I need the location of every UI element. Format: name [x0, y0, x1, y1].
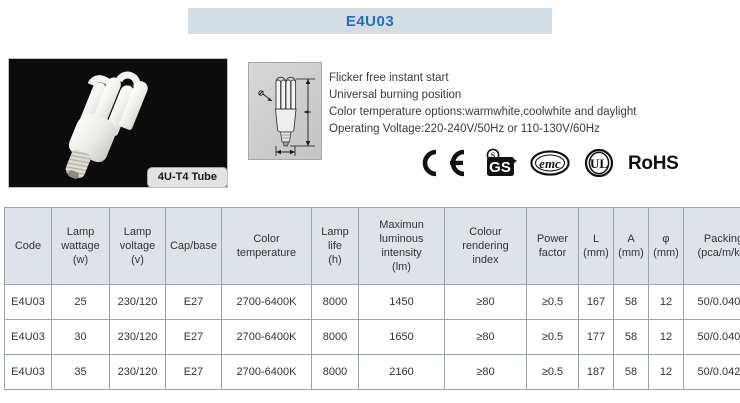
- cell-luminous-intensity: 1650: [359, 320, 445, 355]
- cell-luminous-intensity: 1450: [359, 285, 445, 320]
- column-header-colour-rendering-index: Colour rendering index: [445, 208, 527, 285]
- column-header-color-temperature: Color temperature: [222, 208, 312, 285]
- feature-item: Operating Voltage:220-240V/50Hz or 110-1…: [329, 121, 729, 138]
- gs-mark-icon: S GS: [483, 148, 517, 178]
- feature-item: Flicker free instant start: [329, 70, 729, 87]
- feature-item: Universal burning position: [329, 87, 729, 104]
- cell-lamp-life: 8000: [312, 285, 359, 320]
- cell-code: E4U03: [5, 320, 52, 355]
- dimension-diagram: [248, 62, 322, 160]
- cell-wattage: 30: [52, 320, 110, 355]
- cell-cap-base: E27: [166, 320, 222, 355]
- cell-power-factor: ≥0.5: [527, 285, 579, 320]
- certification-logos: S GS emc UL RoHS: [414, 146, 679, 180]
- column-header-phi-dimension: φ (mm): [649, 208, 684, 285]
- cell-code: E4U03: [5, 285, 52, 320]
- page-title: E4U03: [346, 13, 394, 30]
- ce-mark-icon: [414, 148, 470, 178]
- cell-cri: ≥80: [445, 285, 527, 320]
- cell-color-temperature: 2700-6400K: [222, 355, 312, 390]
- column-header-lamp-life: Lamp life (h): [312, 208, 359, 285]
- cell-power-factor: ≥0.5: [527, 320, 579, 355]
- cell-cap-base: E27: [166, 285, 222, 320]
- cell-color-temperature: 2700-6400K: [222, 285, 312, 320]
- rohs-mark-label: RoHS: [628, 154, 679, 173]
- specification-table: Code Lamp wattage (w) Lamp voltage (v) C…: [4, 207, 740, 390]
- cell-lamp-life: 8000: [312, 355, 359, 390]
- table-row: E4U03 30 230/120 E27 2700-6400K 8000 165…: [5, 320, 740, 355]
- table-header-row: Code Lamp wattage (w) Lamp voltage (v) C…: [5, 208, 740, 285]
- cell-a-dimension: 58: [614, 320, 649, 355]
- page-title-banner: E4U03: [188, 8, 552, 34]
- cell-packing: 50/0.042/8: [684, 355, 740, 390]
- svg-text:emc: emc: [539, 156, 561, 171]
- cell-phi-dimension: 12: [649, 285, 684, 320]
- cell-cap-base: E27: [166, 355, 222, 390]
- cell-luminous-intensity: 2160: [359, 355, 445, 390]
- column-header-packing: Packing (pca/m/kg): [684, 208, 740, 285]
- cell-length: 177: [579, 320, 614, 355]
- column-header-length: L (mm): [579, 208, 614, 285]
- cell-packing: 50/0.040/7: [684, 285, 740, 320]
- cell-voltage: 230/120: [110, 355, 166, 390]
- cell-phi-dimension: 12: [649, 355, 684, 390]
- cell-power-factor: ≥0.5: [527, 355, 579, 390]
- feature-list: Flicker free instant start Universal bur…: [329, 70, 729, 138]
- product-photo: 4U-T4 Tube: [8, 58, 228, 188]
- cell-cri: ≥80: [445, 355, 527, 390]
- dimension-diagram-svg: [249, 63, 321, 159]
- cell-phi-dimension: 12: [649, 320, 684, 355]
- column-header-lamp-wattage: Lamp wattage (w): [52, 208, 110, 285]
- feature-item: Color temperature options:warmwhite,cool…: [329, 104, 729, 121]
- cell-color-temperature: 2700-6400K: [222, 320, 312, 355]
- column-header-lamp-voltage: Lamp voltage (v): [110, 208, 166, 285]
- cell-a-dimension: 58: [614, 355, 649, 390]
- ul-mark-icon: UL: [583, 148, 615, 178]
- column-header-power-factor: Power factor: [527, 208, 579, 285]
- column-header-a-dimension: A (mm): [614, 208, 649, 285]
- svg-text:GS: GS: [489, 159, 511, 176]
- cell-wattage: 35: [52, 355, 110, 390]
- emc-mark-icon: emc: [530, 148, 570, 178]
- table-row: E4U03 25 230/120 E27 2700-6400K 8000 145…: [5, 285, 740, 320]
- cell-length: 167: [579, 285, 614, 320]
- cell-code: E4U03: [5, 355, 52, 390]
- table-row: E4U03 35 230/120 E27 2700-6400K 8000 216…: [5, 355, 740, 390]
- cell-a-dimension: 58: [614, 285, 649, 320]
- column-header-cap-base: Cap/base: [166, 208, 222, 285]
- cell-packing: 50/0.040/8: [684, 320, 740, 355]
- cell-wattage: 25: [52, 285, 110, 320]
- svg-text:UL: UL: [590, 156, 608, 171]
- cell-voltage: 230/120: [110, 320, 166, 355]
- cell-cri: ≥80: [445, 320, 527, 355]
- column-header-luminous-intensity: Maximun luminous intensity (lm): [359, 208, 445, 285]
- product-photo-badge: 4U-T4 Tube: [147, 167, 228, 188]
- column-header-code: Code: [5, 208, 52, 285]
- cell-voltage: 230/120: [110, 285, 166, 320]
- cell-length: 187: [579, 355, 614, 390]
- cell-lamp-life: 8000: [312, 320, 359, 355]
